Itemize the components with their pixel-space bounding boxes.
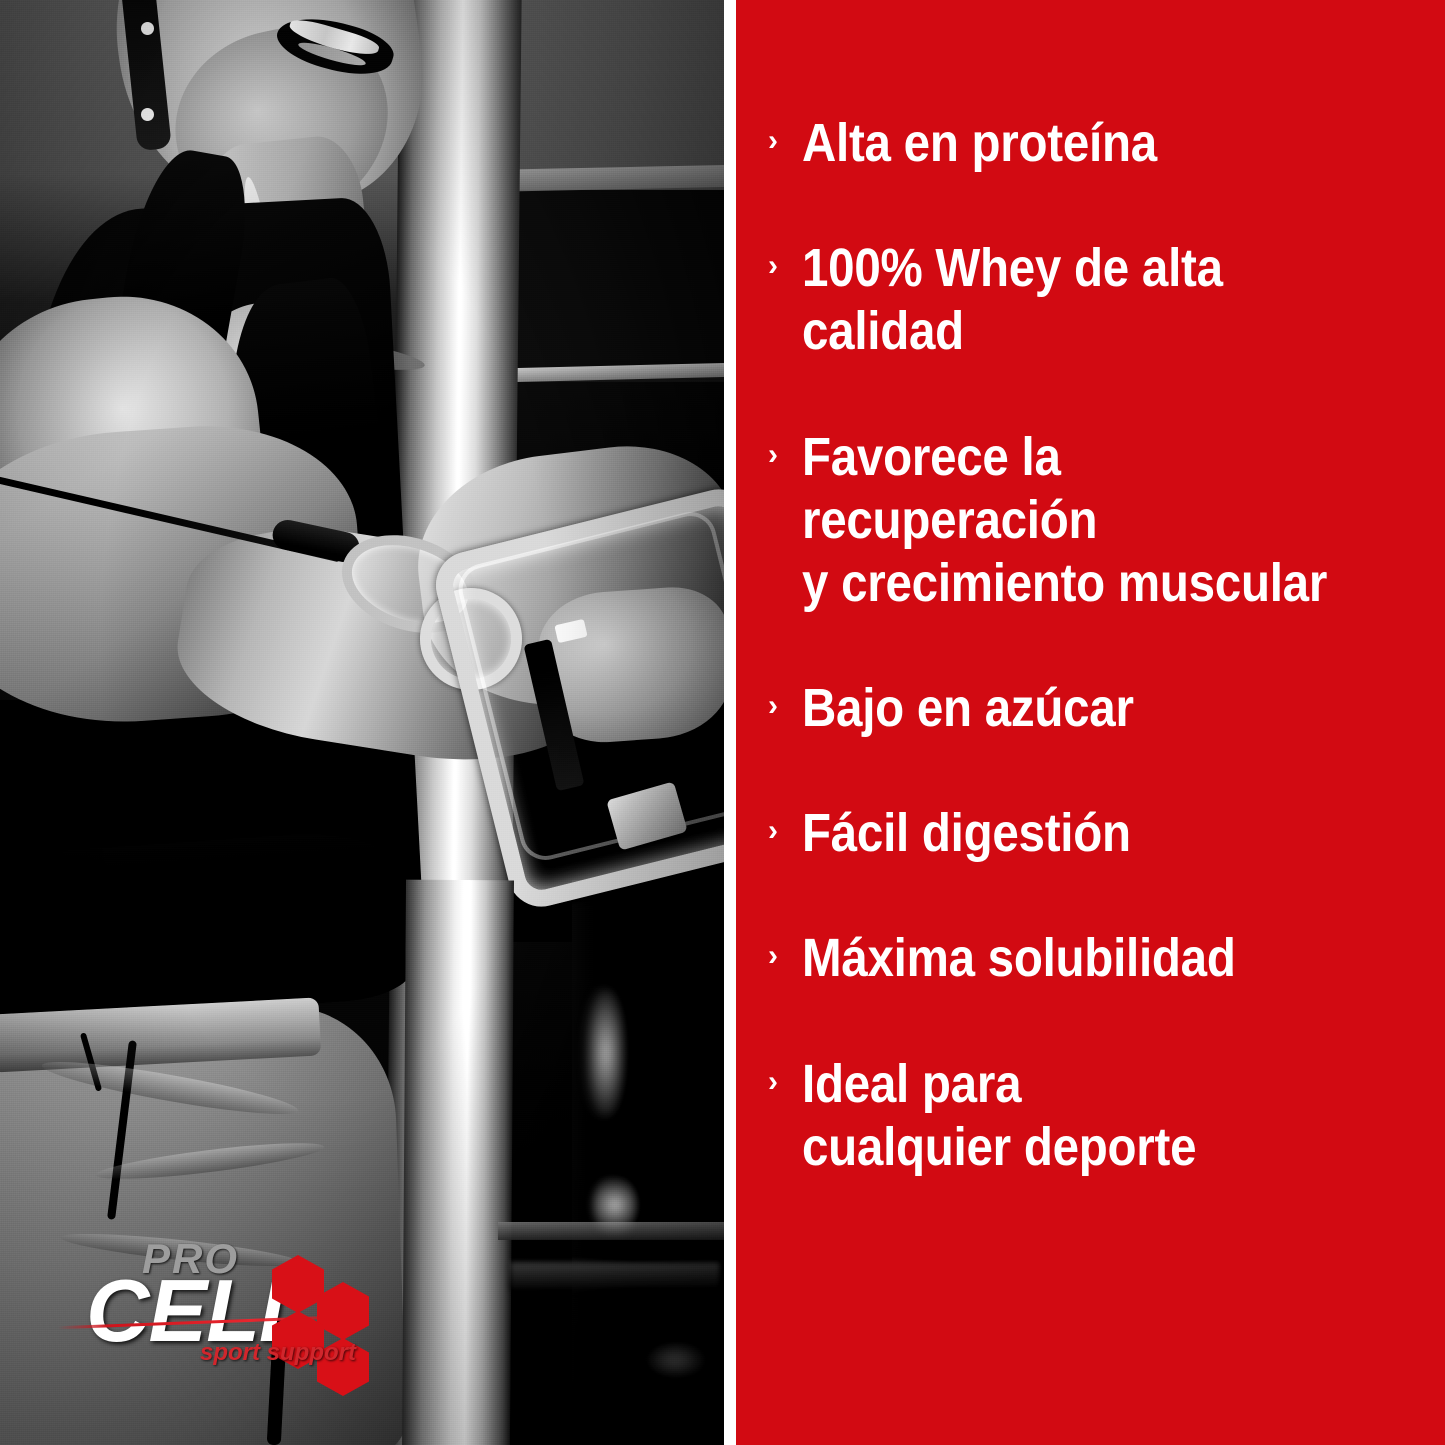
chevron-right-icon: ›	[768, 237, 802, 281]
chevron-right-icon: ›	[768, 802, 802, 846]
benefit-text: Alta en proteína	[802, 112, 1359, 175]
list-item: › Bajo en azúcar	[768, 677, 1435, 740]
benefit-text: Ideal para cualquier deporte	[802, 1053, 1359, 1179]
gym-photo-scene	[0, 0, 724, 1445]
background-bokeh-1	[586, 988, 626, 1118]
background-bokeh-3	[640, 1340, 710, 1380]
chevron-right-icon: ›	[768, 677, 802, 721]
gym-pillar-lower	[402, 880, 514, 1445]
chevron-right-icon: ›	[768, 927, 802, 971]
benefits-list: › Alta en proteína › 100% Whey de alta c…	[768, 112, 1435, 1179]
logo-tagline-text: sport support	[200, 1339, 356, 1367]
benefit-text: Fácil digestión	[802, 802, 1359, 865]
product-feature-poster: PRO CELL sport support › Alta en proteín…	[0, 0, 1445, 1445]
list-item: › 100% Whey de alta calidad	[768, 237, 1435, 363]
tank-top-hem	[15, 827, 416, 1024]
headphone-dot-upper	[141, 22, 154, 35]
list-item: › Alta en proteína	[768, 112, 1435, 175]
benefit-text: Favorece la recuperación y crecimiento m…	[802, 426, 1359, 616]
benefit-text: 100% Whey de alta calidad	[802, 237, 1359, 363]
background-bokeh-2	[592, 1172, 638, 1238]
headphone-dot-lower	[141, 108, 154, 121]
chevron-right-icon: ›	[768, 1053, 802, 1097]
athlete-photo-panel: PRO CELL sport support	[0, 0, 724, 1445]
chevron-right-icon: ›	[768, 426, 802, 470]
benefit-text: Bajo en azúcar	[802, 677, 1359, 740]
chevron-right-icon: ›	[768, 112, 802, 156]
list-item: › Favorece la recuperación y crecimiento…	[768, 426, 1435, 616]
list-item: › Máxima solubilidad	[768, 927, 1435, 990]
list-item: › Ideal para cualquier deporte	[768, 1053, 1435, 1179]
equipment-bar-lower	[510, 1262, 720, 1290]
procell-logo: PRO CELL sport support	[80, 1233, 380, 1383]
benefits-red-panel: › Alta en proteína › 100% Whey de alta c…	[736, 0, 1445, 1445]
hexagon-icon-top-left	[272, 1255, 324, 1313]
hexagon-icon-middle-right	[317, 1282, 369, 1340]
list-item: › Fácil digestión	[768, 802, 1435, 865]
panel-divider	[724, 0, 736, 1445]
benefit-text: Máxima solubilidad	[802, 927, 1359, 990]
